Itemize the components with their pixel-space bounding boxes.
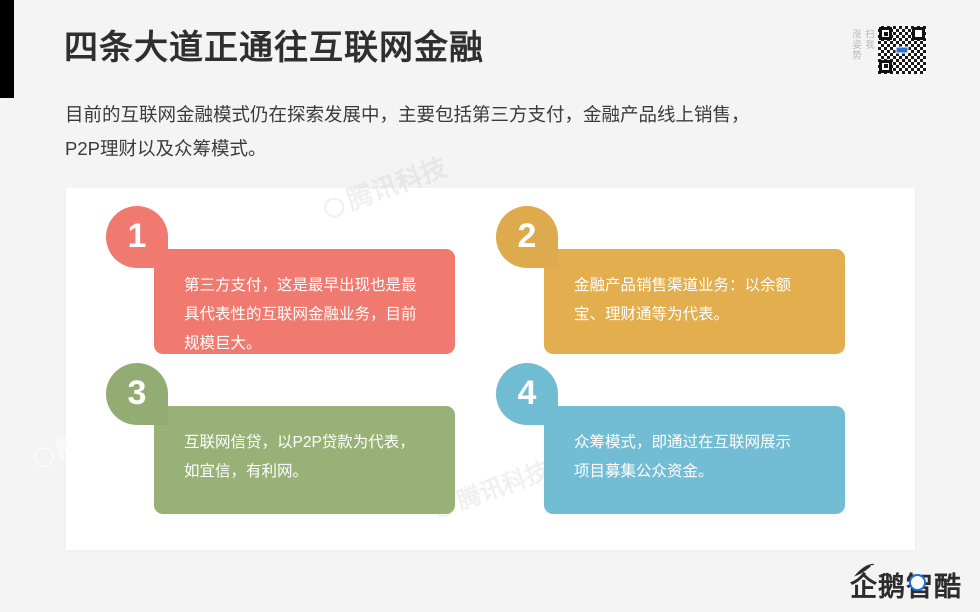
card-number-4: 4	[518, 376, 537, 410]
card-number-3: 3	[128, 376, 147, 410]
page-title: 四条大道正通往互联网金融	[64, 20, 484, 69]
qr-code-icon[interactable]	[878, 26, 926, 74]
card-1-line-1: 第三方支付，这是最早出现也是最	[184, 271, 431, 300]
card-1-line-3: 规模巨大。	[184, 329, 431, 358]
card-number-badge-4: 4	[496, 363, 558, 425]
card-text-4: 众筹模式，即通过在互联网展示 项目募集公众资金。	[574, 428, 821, 486]
card-body-3: 互联网信贷，以P2P贷款为代表， 如宜信，有利网。	[154, 406, 455, 514]
card-text-3: 互联网信贷，以P2P贷款为代表， 如宜信，有利网。	[184, 428, 431, 486]
qr-eye-dot-tr	[916, 32, 920, 36]
card-2-line-2: 宝、理财通等为代表。	[574, 300, 821, 329]
qr-eye-dot-bl	[884, 64, 888, 68]
content-panel: 1 第三方支付，这是最早出现也是最 具代表性的互联网金融业务，目前 规模巨大。 …	[66, 188, 915, 550]
card-body-4: 众筹模式，即通过在互联网展示 项目募集公众资金。	[544, 406, 845, 514]
qr-caption-scan: 扫我	[863, 29, 874, 61]
decorative-black-tab	[0, 0, 14, 98]
card-4-line-1: 众筹模式，即通过在互联网展示	[574, 428, 821, 457]
card-number-badge-2: 2	[496, 206, 558, 268]
logo-ring-accent	[909, 574, 926, 591]
card-number-badge-3: 3	[106, 363, 168, 425]
brand-name: 企鹅智酷	[850, 572, 962, 602]
subtitle-line-2: P2P理财以及众筹模式。	[65, 132, 895, 166]
card-text-2: 金融产品销售渠道业务：以余额 宝、理财通等为代表。	[574, 271, 821, 329]
qr-promo-block[interactable]: 扫我 涨姿势	[850, 26, 926, 74]
subtitle-line-1: 目前的互联网金融模式仍在探索发展中，主要包括第三方支付，金融产品线上销售，	[65, 98, 895, 132]
slide-canvas: 四条大道正通往互联网金融 目前的互联网金融模式仍在探索发展中，主要包括第三方支付…	[0, 0, 980, 612]
card-2-line-1: 金融产品销售渠道业务：以余额	[574, 271, 821, 300]
card-number-2: 2	[518, 219, 537, 253]
card-body-2: 金融产品销售渠道业务：以余额 宝、理财通等为代表。	[544, 249, 845, 354]
card-number-badge-1: 1	[106, 206, 168, 268]
qr-center-logo	[896, 47, 909, 54]
card-3-line-1: 互联网信贷，以P2P贷款为代表，	[184, 428, 431, 457]
qr-caption: 扫我 涨姿势	[850, 26, 874, 61]
page-subtitle: 目前的互联网金融模式仍在探索发展中，主要包括第三方支付，金融产品线上销售， P2…	[65, 98, 895, 166]
qr-caption-knowledge: 涨姿势	[850, 29, 861, 61]
brand-logo: 企鹅智酷	[850, 572, 962, 602]
watermark-dot-icon	[31, 444, 57, 470]
card-3-line-2: 如宜信，有利网。	[184, 457, 431, 486]
card-body-1: 第三方支付，这是最早出现也是最 具代表性的互联网金融业务，目前 规模巨大。	[154, 249, 455, 354]
card-4-line-2: 项目募集公众资金。	[574, 457, 821, 486]
card-1-line-2: 具代表性的互联网金融业务，目前	[184, 300, 431, 329]
qr-eye-dot-tl	[884, 32, 888, 36]
card-number-1: 1	[128, 219, 147, 253]
card-text-1: 第三方支付，这是最早出现也是最 具代表性的互联网金融业务，目前 规模巨大。	[184, 271, 431, 358]
